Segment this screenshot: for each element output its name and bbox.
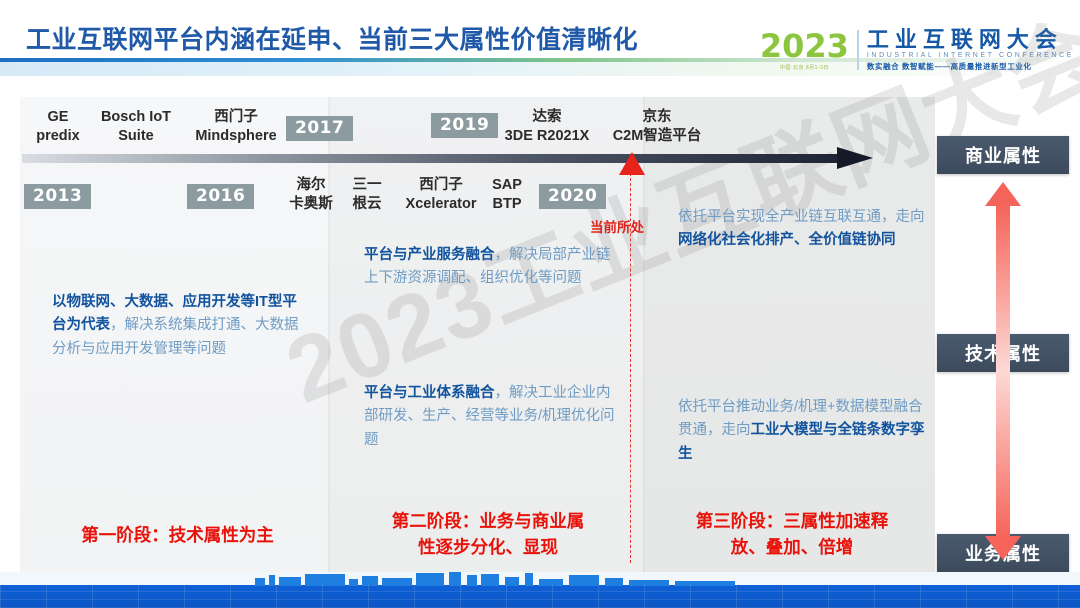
column-3-description-2: 依托平台推动业务/机理+数据模型融合贯通，走向工业大模型与全链条数字孪生 [678,396,926,466]
vendor-line-1: Bosch IoT [90,108,182,127]
vendor-line-1: 西门子 [397,176,485,195]
column-3-description-1-bold: 网络化社会化排产、全价值链协同 [678,232,896,248]
timeline-arrow-bar [22,154,840,163]
vendor-line-1: GE [30,108,86,127]
year-chip-2019: 2019 [431,113,498,138]
conference-logo: 2023 中国·北京 8月1-3日 工业互联网大会 INDUSTRIAL INT… [760,24,1074,76]
phase-label-3-line-2: 放、叠加、倍增 [658,534,926,560]
logo-year: 2023 [760,30,849,62]
vendor-line-2: Mindsphere [183,127,289,146]
year-chip-2020: 2020 [539,184,606,209]
column-3-description-1-pre: 依托平台实现全产业链互联互通，走向 [678,209,925,225]
logo-chinese-name: 工业互联网大会 [867,28,1074,51]
double-arrow-shaft [996,204,1010,538]
timeline-arrow-head-icon [837,147,873,169]
vertical-double-arrow-icon [985,182,1021,560]
column-2-description-1: 平台与产业服务融合，解决局部产业链上下游资源调配、组织优化等问题 [364,244,614,291]
slide-root: 工业互联网平台内涵在延申、当前三大属性价值清晰化 2023 中国·北京 8月1-… [0,0,1080,608]
year-chip-2017: 2017 [286,116,353,141]
footer-band [0,572,1080,608]
phase-label-2-line-2: 性逐步分化、显现 [348,534,628,560]
vendor-line-2: 卡奥斯 [285,195,337,214]
double-arrow-down-head [985,536,1021,560]
vendor-label-siemens-xcelerator: 西门子 Xcelerator [397,176,485,213]
column-1-description: 以物联网、大数据、应用开发等IT型平台为代表，解决系统集成打通、大数据分析与应用… [52,291,302,361]
footer-grid-pattern [0,585,1080,608]
vendor-label-haier-cosmoplat: 海尔 卡奥斯 [285,176,337,213]
phase-label-2: 第二阶段：业务与商业属 性逐步分化、显现 [348,508,628,561]
phase-label-1: 第一阶段：技术属性为主 [40,522,315,548]
vendor-label-sap-btp: SAP BTP [482,176,532,213]
column-2-description-2: 平台与工业体系融合，解决工业企业内部研发、生产、经营等业务/机理优化问题 [364,382,618,452]
vendor-line-1: 海尔 [285,176,337,195]
phase-column-2-panel [330,97,645,574]
vendor-line-2: BTP [482,195,532,214]
vendor-line-1: 达索 [487,108,607,127]
vendor-label-dassault: 达索 3DE R2021X [487,108,607,145]
column-2-description-1-bold: 平台与产业服务融合 [364,247,495,263]
current-position-arrow-icon [619,152,645,175]
year-chip-2013: 2013 [24,184,91,209]
vendor-line-1: 京东 [596,108,718,127]
vendor-line-2: Xcelerator [397,195,485,214]
vendor-line-1: SAP [482,176,532,195]
logo-divider [857,30,859,70]
vendor-line-2: Suite [90,127,182,146]
phase-label-3: 第三阶段：三属性加速释 放、叠加、倍增 [658,508,926,561]
timeline-arrow [22,152,872,164]
vendor-line-1: 三一 [344,176,390,195]
double-arrow-up-head [985,182,1021,206]
column-divider-1 [328,97,330,574]
vendor-line-1: 西门子 [183,108,289,127]
column-3-description-1: 依托平台实现全产业链互联互通，走向网络化社会化排产、全价值链协同 [678,206,926,253]
vendor-label-jd: 京东 C2M智造平台 [596,108,718,145]
phase-column-3-panel [645,97,935,574]
vendor-line-2: C2M智造平台 [596,127,718,146]
logo-tagline: 数实融合 数智赋能——高质量推进新型工业化 [867,61,1074,72]
vendor-line-2: predix [30,127,86,146]
phase-label-2-line-1: 第二阶段：业务与商业属 [348,508,628,534]
slide-header: 工业互联网平台内涵在延申、当前三大属性价值清晰化 2023 中国·北京 8月1-… [0,0,1080,92]
vendor-line-2: 3DE R2021X [487,127,607,146]
current-position-label: 当前所处 [590,216,644,236]
vendor-label-bosch: Bosch IoT Suite [90,108,182,145]
vendor-label-ge: GE predix [30,108,86,145]
attribute-box-commercial: 商业属性 [937,136,1069,174]
vendor-line-2: 根云 [344,195,390,214]
logo-year-subtitle: 中国·北京 8月1-3日 [780,64,829,71]
phase-label-3-line-1: 第三阶段：三属性加速释 [658,508,926,534]
vendor-label-sany-rootcloud: 三一 根云 [344,176,390,213]
vendor-label-siemens-mindsphere: 西门子 Mindsphere [183,108,289,145]
page-title: 工业互联网平台内涵在延申、当前三大属性价值清晰化 [26,20,638,56]
year-chip-2016: 2016 [187,184,254,209]
logo-english-name: INDUSTRIAL INTERNET CONFERENCE [867,52,1074,59]
column-2-description-2-bold: 平台与工业体系融合 [364,385,495,401]
